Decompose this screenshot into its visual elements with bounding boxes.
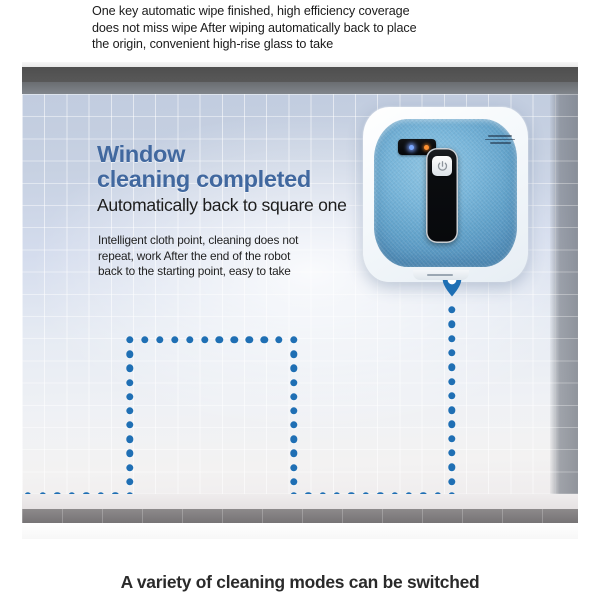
route-dot — [290, 336, 297, 343]
route-dot — [290, 407, 297, 414]
route-dot — [448, 378, 455, 385]
route-dot — [290, 478, 297, 485]
route-dot — [216, 336, 223, 343]
robot-bumper — [413, 270, 469, 280]
route-dot — [448, 449, 455, 456]
route-dot — [290, 436, 297, 443]
route-dot — [126, 478, 133, 485]
route-dot — [290, 350, 297, 357]
route-dot — [448, 335, 455, 342]
route-dot — [141, 336, 148, 343]
route-dot — [126, 436, 133, 443]
top-description-line-1: One key automatic wipe finished, high ef… — [92, 3, 542, 20]
route-dot — [448, 406, 455, 413]
route-dot — [448, 421, 455, 428]
route-dot — [126, 464, 133, 471]
power-button[interactable] — [432, 156, 452, 176]
route-dot — [171, 336, 178, 343]
route-dot — [126, 407, 133, 414]
route-dot — [290, 450, 297, 457]
robot-label-text — [485, 135, 515, 146]
route-dot — [126, 379, 133, 386]
power-icon — [436, 160, 449, 173]
route-dot — [448, 349, 455, 356]
route-dot — [448, 464, 455, 471]
route-dot — [275, 336, 282, 343]
window-sill — [22, 509, 578, 523]
route-dot — [126, 336, 133, 343]
route-dot — [126, 450, 133, 457]
top-description-line-3: the origin, convenient high-rise glass t… — [92, 36, 542, 53]
top-description-line-2: does not miss wipe After wiping automati… — [92, 20, 542, 37]
route-dot — [126, 393, 133, 400]
route-dot — [448, 306, 455, 313]
route-dot — [126, 365, 133, 372]
route-dot — [260, 336, 267, 343]
route-dot — [290, 379, 297, 386]
route-dot — [290, 464, 297, 471]
product-photo: Window cleaning completed Automatically … — [22, 62, 578, 539]
route-dot — [201, 336, 208, 343]
led-amber-icon — [424, 145, 429, 150]
led-blue-icon — [409, 145, 414, 150]
route-dot — [448, 478, 455, 485]
route-dot — [448, 392, 455, 399]
route-dot — [290, 365, 297, 372]
robot-control-panel — [426, 148, 458, 243]
route-dot — [186, 336, 193, 343]
route-dot — [231, 336, 238, 343]
window-sill-base — [22, 523, 578, 539]
route-dot — [448, 321, 455, 328]
cleaning-route-path — [22, 62, 578, 539]
route-dot — [126, 350, 133, 357]
route-dot — [156, 336, 163, 343]
top-description: One key automatic wipe finished, high ef… — [92, 3, 542, 53]
window-sill-gap — [22, 494, 578, 509]
route-dot — [448, 364, 455, 371]
route-dot — [246, 336, 253, 343]
route-dot — [448, 435, 455, 442]
bottom-caption: A variety of cleaning modes can be switc… — [0, 572, 600, 593]
route-dot — [126, 421, 133, 428]
route-dot — [290, 421, 297, 428]
route-dot — [290, 393, 297, 400]
